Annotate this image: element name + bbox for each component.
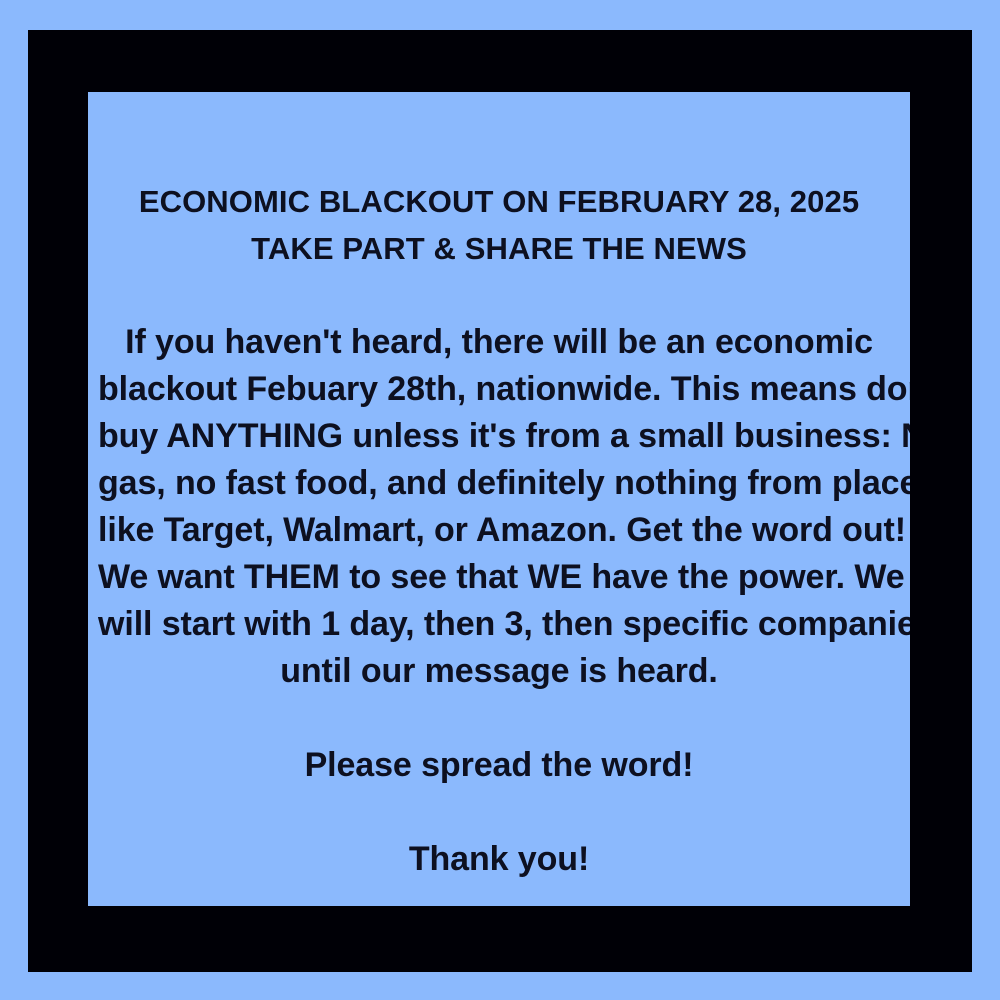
- body-line-8: until our message is heard.: [98, 648, 900, 695]
- body-line-2: blackout Febuary 28th, nationwide. This …: [98, 366, 900, 413]
- black-border-frame: ECONOMIC BLACKOUT ON FEBRUARY 28, 2025 T…: [28, 30, 972, 972]
- body-line-1: If you haven't heard, there will be an e…: [98, 319, 900, 366]
- poster-heading: ECONOMIC BLACKOUT ON FEBRUARY 28, 2025 T…: [88, 178, 910, 272]
- body-line-5: like Target, Walmart, or Amazon. Get the…: [98, 507, 900, 554]
- body-line-4: gas, no fast food, and definitely nothin…: [98, 460, 900, 507]
- message-panel: ECONOMIC BLACKOUT ON FEBRUARY 28, 2025 T…: [88, 92, 910, 906]
- body-spacer-1: [98, 695, 900, 742]
- call-to-action-text: Please spread the word!: [98, 742, 900, 789]
- poster-canvas: ECONOMIC BLACKOUT ON FEBRUARY 28, 2025 T…: [0, 0, 1000, 1000]
- thank-you-text: Thank you!: [98, 836, 900, 883]
- body-line-7: will start with 1 day, then 3, then spec…: [98, 601, 900, 648]
- body-spacer-2: [98, 789, 900, 836]
- poster-body: If you haven't heard, there will be an e…: [88, 319, 910, 883]
- heading-line-1: ECONOMIC BLACKOUT ON FEBRUARY 28, 2025: [110, 178, 888, 225]
- body-line-6: We want THEM to see that WE have the pow…: [98, 554, 900, 601]
- heading-line-2: TAKE PART & SHARE THE NEWS: [110, 225, 888, 272]
- poster-content: ECONOMIC BLACKOUT ON FEBRUARY 28, 2025 T…: [88, 178, 910, 883]
- body-line-3: buy ANYTHING unless it's from a small bu…: [98, 413, 900, 460]
